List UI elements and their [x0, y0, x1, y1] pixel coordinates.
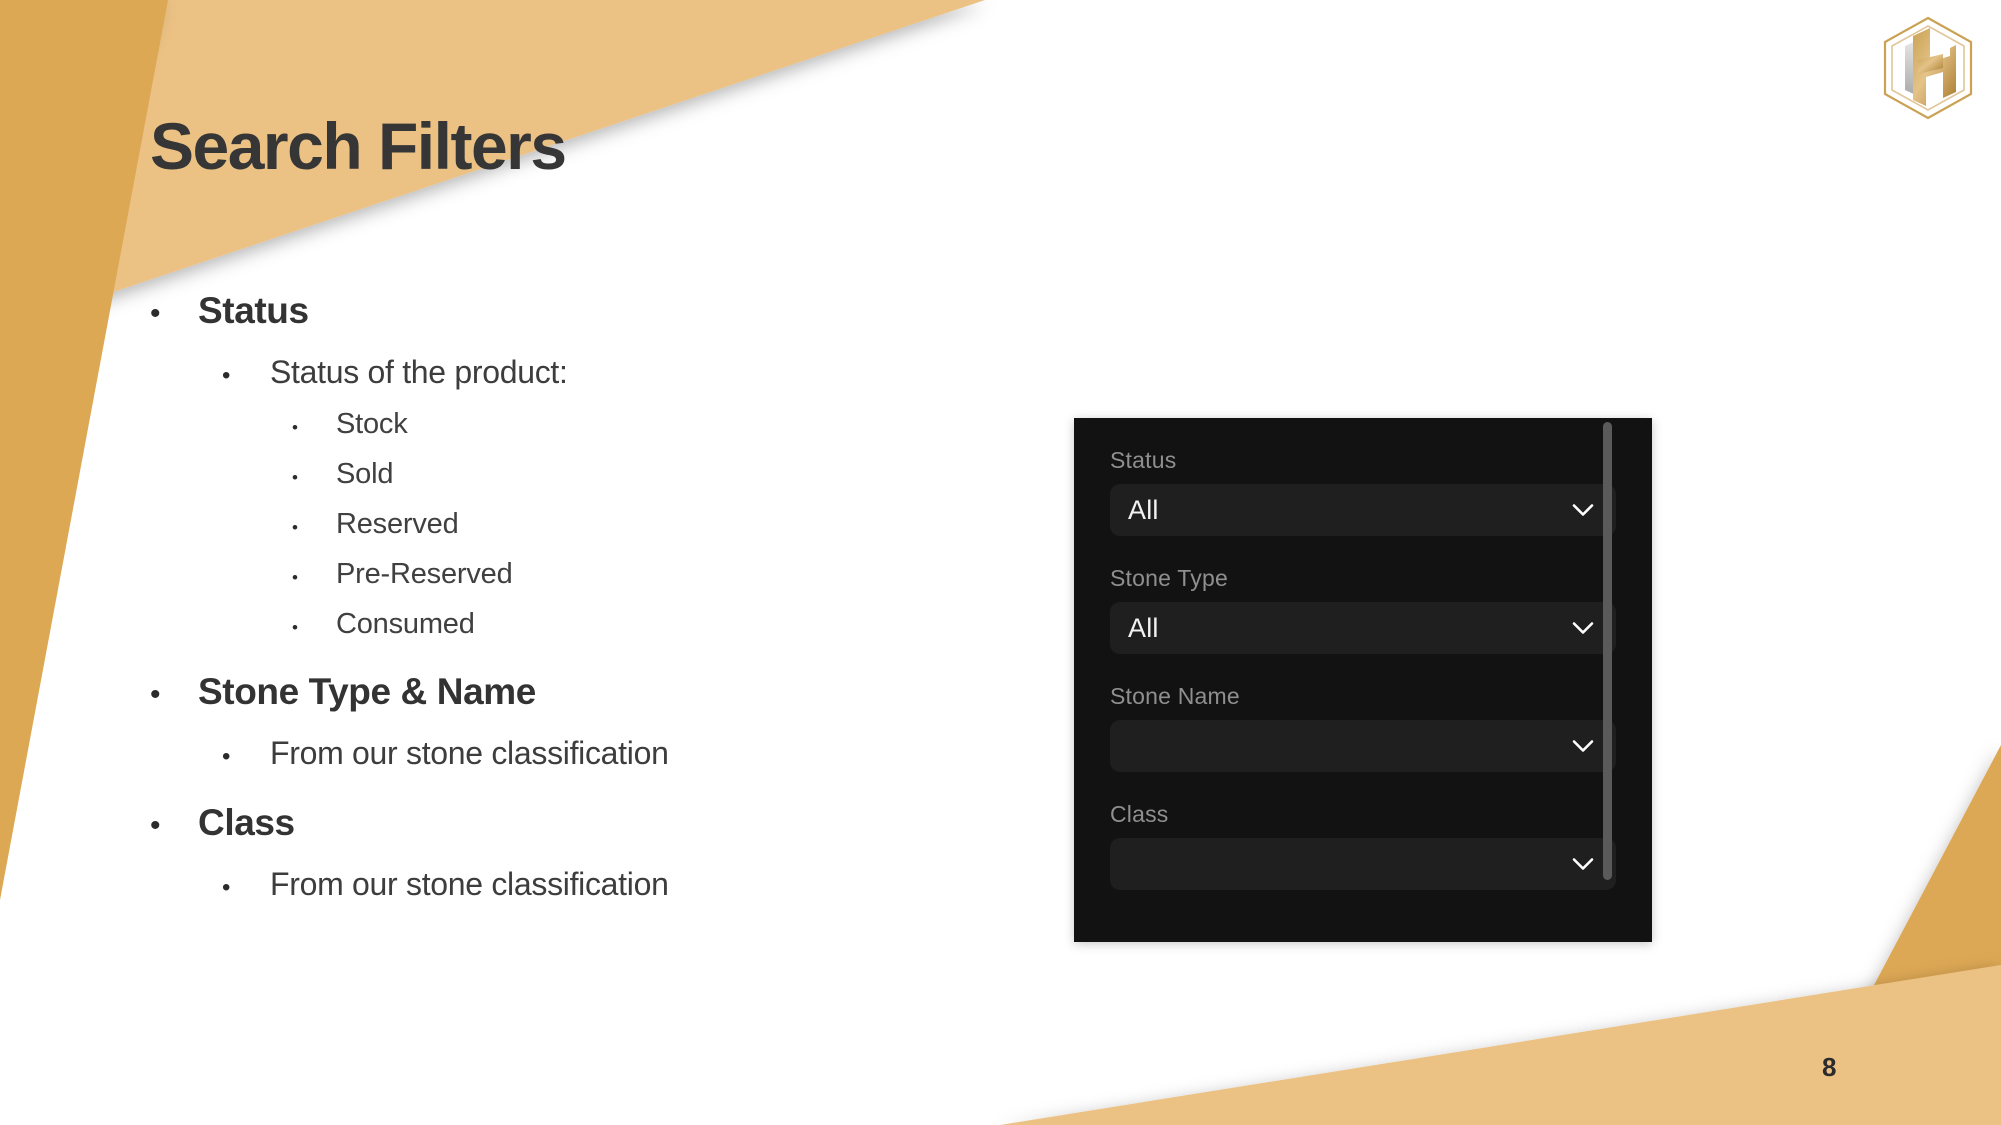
panel-scrollbar-track[interactable] — [1623, 418, 1632, 942]
field-label-class: Class — [1110, 800, 1616, 828]
bullet-label: Status — [198, 290, 309, 332]
page-title: Search Filters — [150, 108, 566, 184]
bullet-marker: • — [292, 419, 336, 436]
filter-panel-content: Status All Stone Type All Stone Name — [1074, 418, 1652, 890]
stone-type-select-value: All — [1128, 613, 1159, 644]
bullet-label: Sold — [336, 458, 393, 491]
bullet-label: Stone Type & Name — [198, 671, 536, 713]
bullet-marker: • — [150, 811, 198, 841]
spacer — [150, 844, 970, 866]
spacer — [150, 332, 970, 354]
class-select[interactable] — [1110, 838, 1616, 890]
bullet-label: From our stone classification — [270, 735, 669, 772]
filter-field-class: Class — [1074, 800, 1652, 890]
bullet-item-stone-type-and-name: • Stone Type & Name — [150, 671, 970, 713]
stone-type-select[interactable]: All — [1110, 602, 1616, 654]
spacer — [150, 391, 970, 408]
bullet-marker: • — [292, 469, 336, 486]
hexagon-h-logo — [1872, 12, 1984, 124]
spacer — [150, 713, 970, 735]
bullet-marker: • — [150, 299, 198, 329]
bullet-marker: • — [222, 876, 270, 900]
spacer — [150, 772, 970, 802]
bullet-marker: • — [292, 569, 336, 586]
bullet-item-status-of-the-product: • Status of the product: — [222, 354, 970, 391]
deco-top-left-dark-wedge — [0, 0, 168, 900]
bullet-item-from-our-stone-classification-1: • From our stone classification — [222, 735, 970, 772]
slide-canvas: Search Filters • Status • Status of the … — [0, 0, 2001, 1125]
bullet-item-sold: • Sold — [292, 458, 970, 491]
bullet-marker: • — [150, 680, 198, 710]
spacer — [150, 591, 970, 608]
deco-bottom-right-light — [1000, 965, 2001, 1125]
spacer — [150, 641, 970, 671]
filter-field-stone-name: Stone Name — [1074, 682, 1652, 772]
bullet-item-consumed: • Consumed — [292, 608, 970, 641]
bullet-label: Consumed — [336, 608, 475, 641]
bullet-item-status: • Status — [150, 290, 970, 332]
spacer — [150, 491, 970, 508]
chevron-down-icon — [1572, 622, 1594, 635]
chevron-down-icon — [1572, 858, 1594, 871]
bullet-label: Reserved — [336, 508, 459, 541]
bullet-marker: • — [222, 745, 270, 769]
chevron-down-icon — [1572, 504, 1594, 517]
spacer — [150, 541, 970, 558]
filter-field-status: Status All — [1074, 446, 1652, 536]
bullet-item-from-our-stone-classification-2: • From our stone classification — [222, 866, 970, 903]
panel-scrollbar-thumb[interactable] — [1603, 422, 1612, 880]
stone-name-select[interactable] — [1110, 720, 1616, 772]
bullet-list: • Status • Status of the product: • Stoc… — [150, 290, 970, 903]
bullet-marker: • — [292, 519, 336, 536]
status-select-value: All — [1128, 495, 1159, 526]
deco-top-left-dark — [0, 0, 160, 420]
bullet-label: From our stone classification — [270, 866, 669, 903]
field-label-status: Status — [1110, 446, 1616, 474]
filter-panel-screenshot: Status All Stone Type All Stone Name — [1074, 418, 1652, 942]
page-number: 8 — [1822, 1052, 1836, 1083]
status-select[interactable]: All — [1110, 484, 1616, 536]
bullet-item-class: • Class — [150, 802, 970, 844]
bullet-label: Class — [198, 802, 295, 844]
bullet-label: Pre-Reserved — [336, 558, 513, 591]
bullet-item-pre-reserved: • Pre-Reserved — [292, 558, 970, 591]
bullet-label: Status of the product: — [270, 354, 568, 391]
spacer — [150, 441, 970, 458]
field-label-stone-name: Stone Name — [1110, 682, 1616, 710]
bullet-marker: • — [292, 619, 336, 636]
bullet-marker: • — [222, 364, 270, 388]
chevron-down-icon — [1572, 740, 1594, 753]
bullet-label: Stock — [336, 408, 408, 441]
bullet-item-stock: • Stock — [292, 408, 970, 441]
field-label-stone-type: Stone Type — [1110, 564, 1616, 592]
bullet-item-reserved: • Reserved — [292, 508, 970, 541]
filter-field-stone-type: Stone Type All — [1074, 564, 1652, 654]
